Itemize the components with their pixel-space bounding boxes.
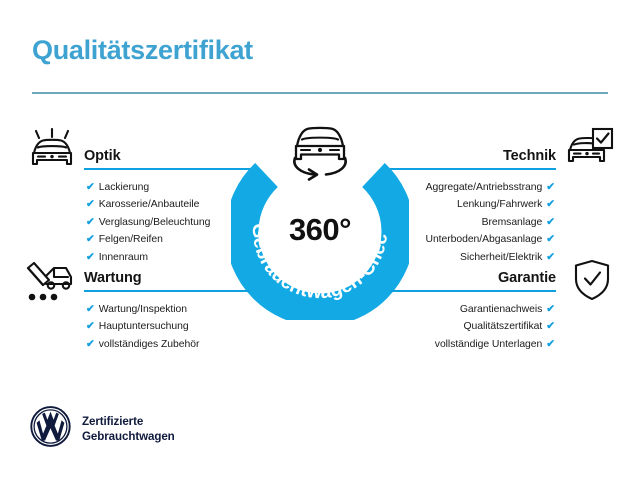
section-title-wartung: Wartung [84,270,142,286]
section-title-optik: Optik [84,148,121,164]
list-item: ✔Verglasung/Beleuchtung [84,214,250,231]
checklist-technik: Aggregate/Antriebsstrang✔ Lenkung/Fahrwe… [390,179,556,266]
check-icon: ✔ [86,181,95,193]
car-shine-icon [27,128,77,177]
car-rotation-360-icon [284,119,356,185]
qualitaetszertifikat-page: Qualitätszertifikat [0,0,640,480]
check-icon: ✔ [86,303,95,315]
footer-text: Zertifizierte Gebrauchtwagen [82,414,175,444]
section-divider-optik [84,168,250,170]
section-divider-technik [390,168,556,170]
footer-brand: Zertifizierte Gebrauchtwagen [30,406,175,452]
check-icon: ✔ [546,338,555,350]
check-icon: ✔ [546,198,555,210]
page-title: Qualitätszertifikat [32,35,253,66]
list-item: Unterboden/Abgasanlage✔ [390,231,556,248]
check-icon: ✔ [86,338,95,350]
section-divider-wartung [84,290,250,292]
shield-check-icon [572,258,612,307]
section-optik: Optik ✔Lackierung ✔Karosserie/Anbauteile… [84,140,250,266]
list-item: Aggregate/Antriebsstrang✔ [390,179,556,196]
check-icon: ✔ [86,198,95,210]
list-item: vollständige Unterlagen✔ [390,336,556,353]
list-item-label: vollständiges Zubehör [99,339,200,350]
check-icon: ✔ [546,320,555,332]
list-item-label: Unterboden/Abgasanlage [425,234,542,245]
check-icon: ✔ [86,216,95,228]
check-icon: ✔ [546,181,555,193]
list-item: ✔Wartung/Inspektion [84,301,250,318]
section-technik: Technik Aggregate/Antriebsstrang✔ Lenkun… [390,140,556,266]
check-icon: ✔ [546,216,555,228]
check-icon: ✔ [86,320,95,332]
list-item-label: Wartung/Inspektion [99,304,187,315]
volkswagen-logo-icon [30,406,71,452]
list-item: Garantienachweis✔ [390,301,556,318]
checklist-optik: ✔Lackierung ✔Karosserie/Anbauteile ✔Verg… [84,179,250,266]
list-item-label: Lackierung [99,182,149,193]
section-title-garantie: Garantie [498,270,556,286]
list-item-label: Verglasung/Beleuchtung [99,217,211,228]
check-icon: ✔ [86,233,95,245]
check-icon: ✔ [546,251,555,263]
pencil-car-service-icon [24,260,76,311]
check-icon: ✔ [546,233,555,245]
footer-line-2: Gebrauchtwagen [82,429,175,444]
checklist-wartung: ✔Wartung/Inspektion ✔Hauptuntersuchung ✔… [84,301,250,353]
list-item: Bremsanlage✔ [390,214,556,231]
footer-line-1: Zertifizierte [82,414,175,429]
list-item-label: Aggregate/Antriebsstrang [426,182,543,193]
check-icon: ✔ [86,251,95,263]
list-item-label: Bremsanlage [482,217,543,228]
list-item: Qualitätszertifikat✔ [390,318,556,335]
list-item-label: Sicherheit/Elektrik [460,252,542,263]
list-item-label: Hauptuntersuchung [99,321,189,332]
car-checkbox-icon [566,126,614,175]
check-icon: ✔ [546,303,555,315]
list-item-label: Innenraum [99,252,148,263]
checklist-garantie: Garantienachweis✔ Qualitätszertifikat✔ v… [390,301,556,353]
section-wartung: Wartung ✔Wartung/Inspektion ✔Hauptunters… [84,262,250,353]
list-item: ✔Lackierung [84,179,250,196]
list-item-label: Qualitätszertifikat [464,321,543,332]
list-item: ✔vollständiges Zubehör [84,336,250,353]
list-item-label: Lenkung/Fahrwerk [457,199,542,210]
list-item-label: Karosserie/Anbauteile [99,199,200,210]
header-divider [32,92,608,94]
list-item: ✔Hauptuntersuchung [84,318,250,335]
badge-degree-label: 360° [231,212,409,248]
section-garantie: Garantie Garantienachweis✔ Qualitätszert… [390,262,556,353]
list-item: Lenkung/Fahrwerk✔ [390,196,556,213]
list-item-label: Garantienachweis [460,304,542,315]
list-item: ✔Felgen/Reifen [84,231,250,248]
section-title-technik: Technik [503,148,556,164]
section-divider-garantie [390,290,556,292]
list-item-label: Felgen/Reifen [99,234,163,245]
list-item-label: vollständige Unterlagen [435,339,542,350]
list-item: ✔Karosserie/Anbauteile [84,196,250,213]
